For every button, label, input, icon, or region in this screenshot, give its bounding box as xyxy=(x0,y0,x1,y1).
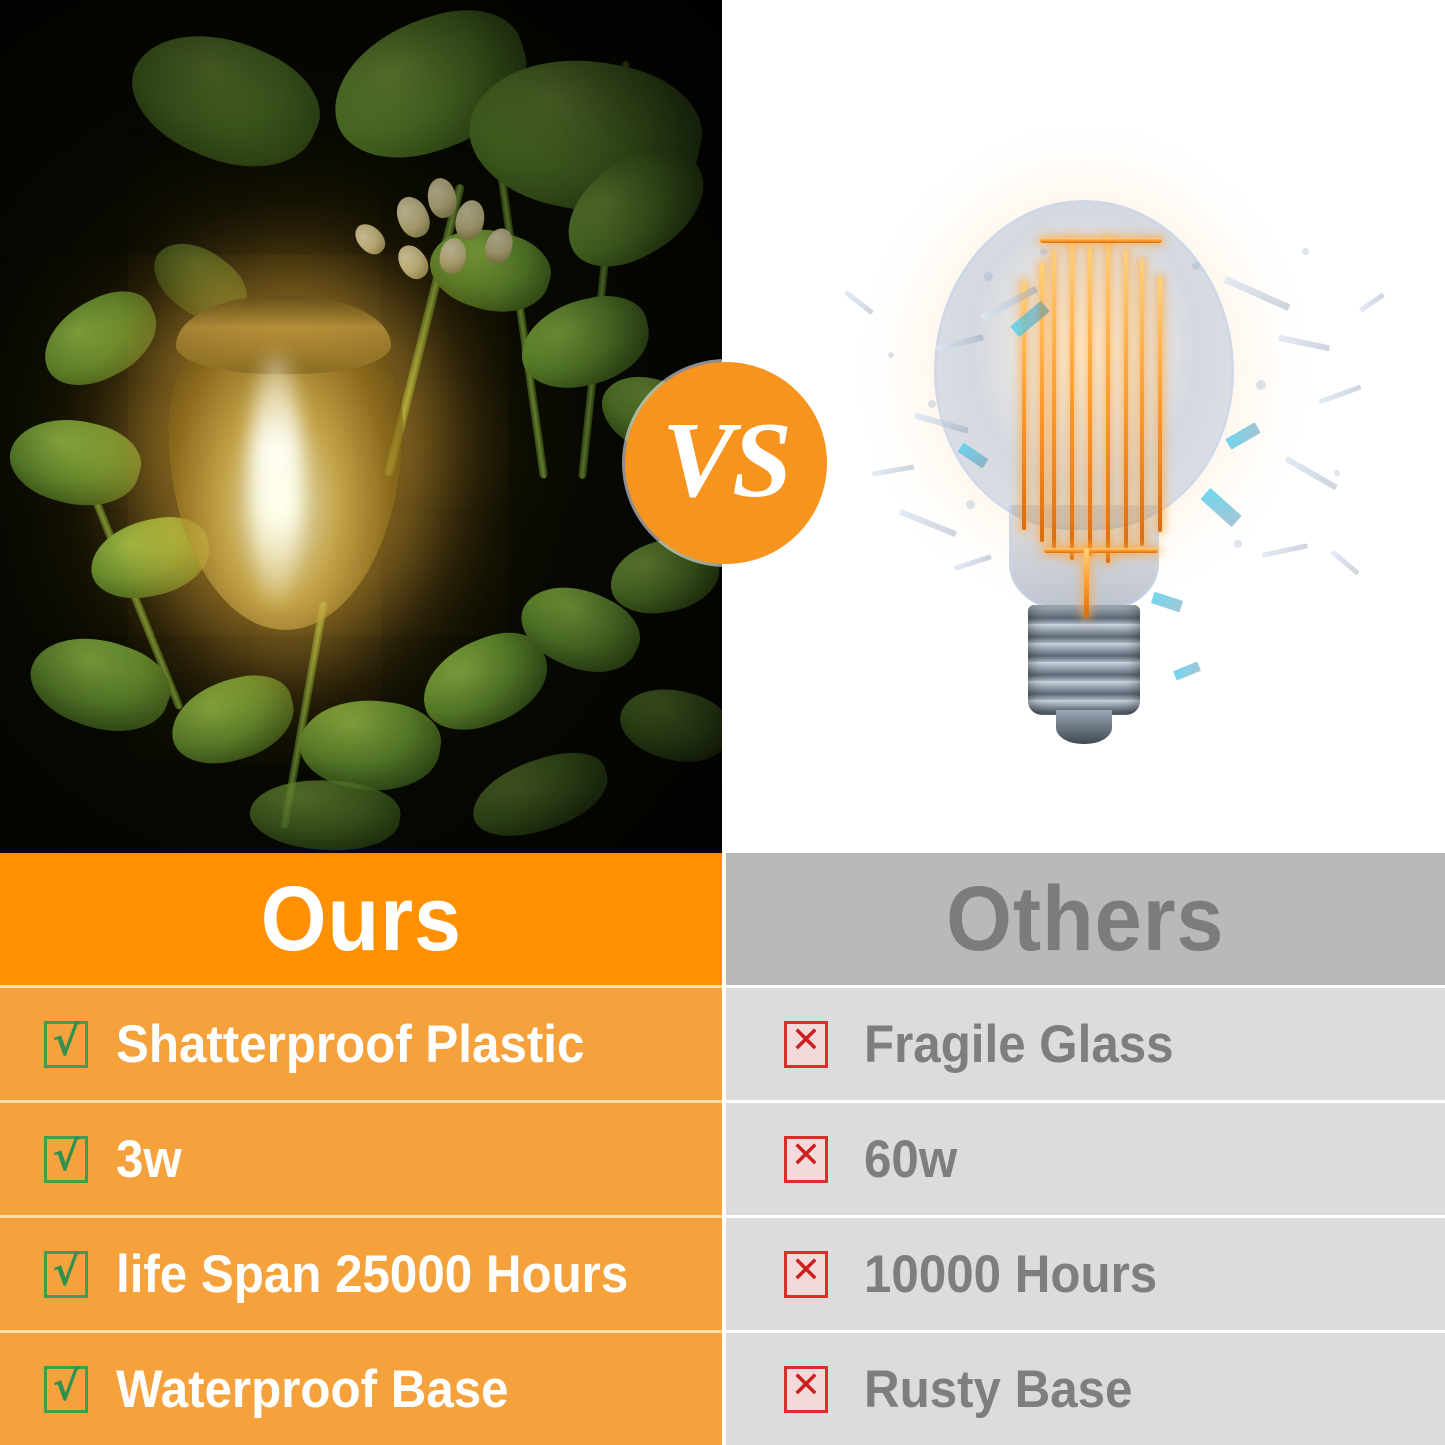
cross-icon: ✕ xyxy=(784,1021,828,1068)
vs-badge: VS xyxy=(625,362,827,564)
check-icon: √ xyxy=(44,1136,88,1183)
cell-others: ✕ 60w xyxy=(722,1100,1445,1215)
photo-strip: VS xyxy=(0,0,1445,853)
column-headers: Ours Others xyxy=(0,853,1445,985)
bulb-screw-base xyxy=(1028,605,1140,715)
night-vignette xyxy=(0,0,722,853)
table-row: √ life Span 25000 Hours ✕ 10000 Hours xyxy=(0,1215,1445,1330)
cell-others: ✕ Rusty Base xyxy=(722,1330,1445,1445)
table-row: √ 3w ✕ 60w xyxy=(0,1100,1445,1215)
cell-others: ✕ 10000 Hours xyxy=(722,1215,1445,1330)
photo-others xyxy=(722,0,1445,853)
cell-ours: √ Shatterproof Plastic xyxy=(0,985,722,1100)
cross-glyph: ✕ xyxy=(791,1138,821,1174)
photo-ours xyxy=(0,0,722,853)
check-glyph: √ xyxy=(53,1252,80,1292)
check-glyph: √ xyxy=(53,1137,80,1177)
cross-icon: ✕ xyxy=(784,1251,828,1298)
cross-glyph: ✕ xyxy=(791,1253,821,1289)
feature-label-ours: Shatterproof Plastic xyxy=(116,1018,584,1071)
feature-label-others: Rusty Base xyxy=(864,1363,1132,1416)
header-ours-title: Ours xyxy=(260,873,461,965)
header-ours: Ours xyxy=(0,853,722,985)
header-others-title: Others xyxy=(946,873,1224,965)
bulb-screw-tip xyxy=(1056,710,1112,744)
check-glyph: √ xyxy=(53,1022,80,1062)
cross-glyph: ✕ xyxy=(791,1368,821,1404)
cell-others: ✕ Fragile Glass xyxy=(722,985,1445,1100)
check-icon: √ xyxy=(44,1251,88,1298)
cross-glyph: ✕ xyxy=(791,1023,821,1059)
table-row: √ Waterproof Base ✕ Rusty Base xyxy=(0,1330,1445,1445)
cell-ours: √ life Span 25000 Hours xyxy=(0,1215,722,1330)
cell-ours: √ Waterproof Base xyxy=(0,1330,722,1445)
check-glyph: √ xyxy=(53,1367,80,1407)
cross-icon: ✕ xyxy=(784,1136,828,1183)
glass-bulb-body xyxy=(934,200,1234,530)
cell-ours: √ 3w xyxy=(0,1100,722,1215)
vs-label: VS xyxy=(662,407,790,515)
feature-label-others: 10000 Hours xyxy=(864,1248,1157,1301)
feature-rows: √ Shatterproof Plastic ✕ Fragile Glass √… xyxy=(0,985,1445,1445)
feature-label-ours: Waterproof Base xyxy=(116,1363,509,1416)
feature-label-others: 60w xyxy=(864,1133,957,1186)
table-row: √ Shatterproof Plastic ✕ Fragile Glass xyxy=(0,985,1445,1100)
feature-label-others: Fragile Glass xyxy=(864,1018,1174,1071)
header-others: Others xyxy=(722,853,1445,985)
comparison-infographic: VS Ours Others √ Shatterproof Plastic ✕ … xyxy=(0,0,1445,1445)
cross-icon: ✕ xyxy=(784,1366,828,1413)
feature-label-ours: life Span 25000 Hours xyxy=(116,1248,628,1301)
check-icon: √ xyxy=(44,1366,88,1413)
feature-label-ours: 3w xyxy=(116,1133,182,1186)
check-icon: √ xyxy=(44,1021,88,1068)
